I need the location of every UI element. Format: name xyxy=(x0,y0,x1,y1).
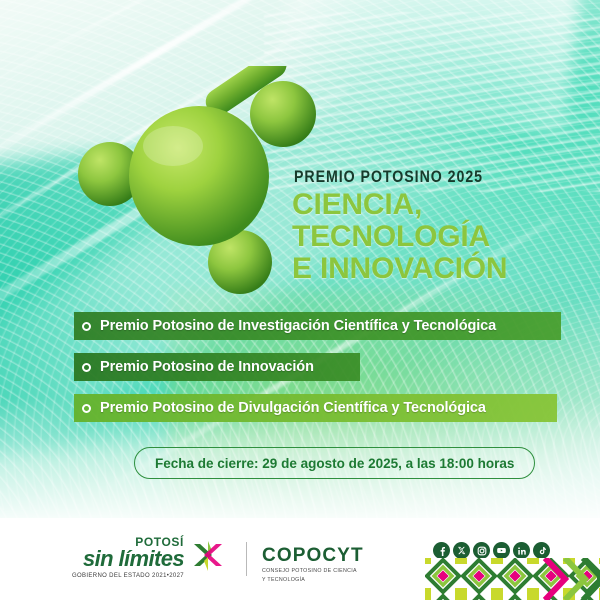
footer: POTOSÍ sin límites GOBIERNO DEL ESTADO 2… xyxy=(0,518,600,600)
bullet-icon xyxy=(82,404,91,413)
youtube-icon[interactable] xyxy=(493,542,510,559)
x-twitter-icon[interactable] xyxy=(453,542,470,559)
award-label: Premio Potosino de Divulgación Científic… xyxy=(100,400,486,416)
award-item: Premio Potosino de Innovación xyxy=(74,353,360,381)
copocyt-logo: COPOCYT CONSEJO POTOSINO DE CIENCIA Y TE… xyxy=(262,546,364,583)
huichol-diamond-pattern xyxy=(425,558,600,600)
bullet-icon xyxy=(82,322,91,331)
headline-line-3: E INNOVACIÓN xyxy=(292,254,592,284)
footer-divider xyxy=(246,542,247,576)
government-logo: POTOSÍ sin límites GOBIERNO DEL ESTADO 2… xyxy=(72,536,225,580)
instagram-icon[interactable] xyxy=(473,542,490,559)
poster: PREMIO POTOSINO 2025 CIENCIA, TECNOLOGÍA… xyxy=(0,0,600,600)
headline-line-2: TECNOLOGÍA xyxy=(292,222,592,252)
linkedin-icon[interactable] xyxy=(513,542,530,559)
award-item: Premio Potosino de Investigación Científ… xyxy=(74,312,561,340)
headline-line-1: CIENCIA, xyxy=(292,190,592,220)
award-list: Premio Potosino de Investigación Científ… xyxy=(74,312,574,435)
logo-sin-limites-text: sin límites xyxy=(72,548,184,570)
potosi-emblem-icon xyxy=(191,538,225,579)
facebook-icon[interactable] xyxy=(433,542,450,559)
award-item: Premio Potosino de Divulgación Científic… xyxy=(74,394,557,422)
copocyt-subtitle-line-2: Y TECNOLOGÍA xyxy=(262,577,364,584)
award-label: Premio Potosino de Investigación Científ… xyxy=(100,318,496,334)
social-links[interactable] xyxy=(433,542,550,559)
copocyt-name: COPOCYT xyxy=(262,546,364,566)
kicker-text: PREMIO POTOSINO 2025 xyxy=(294,168,483,187)
copocyt-subtitle-line-1: CONSEJO POTOSINO DE CIENCIA xyxy=(262,568,364,575)
bullet-icon xyxy=(82,363,91,372)
tiktok-icon[interactable] xyxy=(533,542,550,559)
deadline-text: Fecha de cierre: 29 de agosto de 2025, a… xyxy=(155,456,514,471)
logo-gobierno-text: GOBIERNO DEL ESTADO 2021•2027 xyxy=(72,572,184,580)
deadline-badge: Fecha de cierre: 29 de agosto de 2025, a… xyxy=(134,447,535,479)
molecule-atoms xyxy=(78,81,316,294)
award-label: Premio Potosino de Innovación xyxy=(100,359,314,375)
page-title: CIENCIA, TECNOLOGÍA E INNOVACIÓN xyxy=(292,190,592,286)
